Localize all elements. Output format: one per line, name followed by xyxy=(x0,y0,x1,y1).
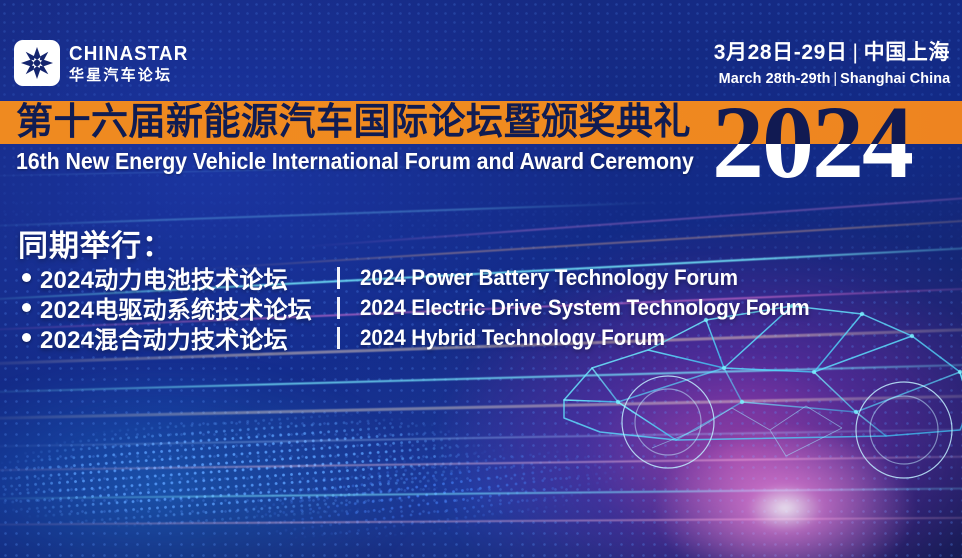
forum-name-english: 2024 Electric Drive System Technology Fo… xyxy=(360,295,810,321)
bullet-icon xyxy=(22,333,31,342)
location-chinese: 中国上海 xyxy=(864,41,950,64)
location-english: Shanghai China xyxy=(840,70,950,87)
event-poster: CHINASTAR 华星汽车论坛 3月28日-29日|中国上海 March 28… xyxy=(0,0,962,558)
bullet-icon xyxy=(22,273,31,282)
brand-logo: CHINASTAR 华星汽车论坛 xyxy=(14,40,196,86)
date-separator-cn: | xyxy=(848,41,864,64)
concurrent-heading: 同期举行： xyxy=(18,221,173,265)
forum-name-english: 2024 Power Battery Technology Forum xyxy=(360,265,738,291)
forum-name-chinese: 2024混合动力技术论坛 xyxy=(40,320,337,355)
date-english: March 28th-29th xyxy=(718,70,830,87)
light-streak xyxy=(300,186,962,248)
forum-name-english: 2024 Hybrid Technology Forum xyxy=(360,325,665,351)
concurrent-forum-list: 2024动力电池技术论坛 2024 Power Battery Technolo… xyxy=(22,263,838,353)
logo-chinese-name: 华星汽车论坛 xyxy=(69,68,196,83)
list-item: 2024电驱动系统技术论坛 2024 Electric Drive System… xyxy=(22,293,838,322)
list-item: 2024动力电池技术论坛 2024 Power Battery Technolo… xyxy=(22,263,838,292)
page-title-chinese: 第十六届新能源汽车国际论坛暨颁奖典礼 xyxy=(16,99,691,145)
page-title-english: 16th New Energy Vehicle International Fo… xyxy=(16,148,694,175)
star-emblem-icon xyxy=(14,40,60,86)
forum-separator-icon xyxy=(337,267,340,289)
date-separator-en: | xyxy=(830,70,840,87)
date-chinese-line: 3月28日-29日|中国上海 xyxy=(709,42,950,63)
forum-separator-icon xyxy=(337,297,340,319)
forum-separator-icon xyxy=(337,327,340,349)
date-english-line: March 28th-29th|Shanghai China xyxy=(718,71,950,86)
list-item: 2024混合动力技术论坛 2024 Hybrid Technology Foru… xyxy=(22,323,838,352)
bullet-icon xyxy=(22,303,31,312)
logo-english-name: CHINASTAR xyxy=(69,44,188,64)
date-chinese: 3月28日-29日 xyxy=(714,41,848,64)
date-location-block: 3月28日-29日|中国上海 March 28th-29th|Shanghai … xyxy=(709,42,950,86)
